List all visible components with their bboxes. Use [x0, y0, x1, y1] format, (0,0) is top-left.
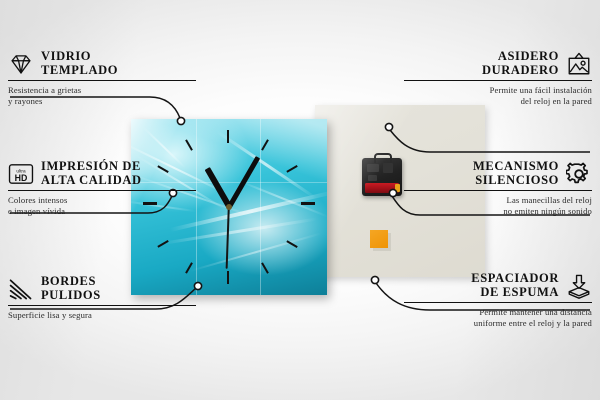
clock-mechanism	[362, 158, 402, 196]
feature-divider	[8, 190, 196, 191]
feature-title: MECANISMO SILENCIOSO	[473, 160, 559, 187]
feature-asidero-duradero[interactable]: ASIDERO DURADERO Permite una fácil insta…	[404, 50, 592, 106]
feature-heading: MECANISMO SILENCIOSO	[404, 160, 592, 187]
feature-heading: ASIDERO DURADERO	[404, 50, 592, 77]
ultra-hd-icon: ultra HD	[8, 161, 34, 187]
feature-heading: ultra HD IMPRESIÓN DE ALTA CALIDAD	[8, 160, 196, 187]
mechanism-detail	[367, 164, 379, 172]
feature-divider	[8, 305, 196, 306]
svg-text:HD: HD	[15, 172, 28, 182]
feature-mecanismo-silencioso[interactable]: MECANISMO SILENCIOSO Las manecillas del …	[404, 160, 592, 216]
wall-hanger-frame-icon	[566, 51, 592, 77]
feature-description: Superficie lisa y segura	[8, 310, 196, 320]
feature-impresion-alta-calidad[interactable]: ultra HD IMPRESIÓN DE ALTA CALIDAD Color…	[8, 160, 196, 216]
feature-description: Permite mantener una distancia uniforme …	[404, 307, 592, 328]
clock-tick	[227, 271, 229, 284]
feature-title: IMPRESIÓN DE ALTA CALIDAD	[41, 160, 142, 187]
foam-spacer	[370, 230, 388, 248]
feature-title: VIDRIO TEMPLADO	[41, 50, 118, 77]
feature-espaciador-de-espuma[interactable]: ESPACIADOR DE ESPUMA Permite mantener un…	[404, 272, 592, 328]
feature-title: ASIDERO DURADERO	[482, 50, 559, 77]
feature-description: Colores intensos e imagen vívida	[8, 195, 196, 216]
clock-tick	[301, 202, 315, 205]
feature-heading: ESPACIADOR DE ESPUMA	[404, 272, 592, 299]
diamond-icon	[8, 51, 34, 77]
feature-heading: BORDES PULIDOS	[8, 275, 196, 302]
gear-icon	[566, 161, 592, 187]
feature-description: Permite una fácil instalación del reloj …	[404, 85, 592, 106]
feature-description: Las manecillas del reloj no emiten ningú…	[404, 195, 592, 216]
feature-bordes-pulidos[interactable]: BORDES PULIDOS Superficie lisa y segura	[8, 275, 196, 321]
polished-edges-icon	[8, 276, 34, 302]
center-pin	[226, 204, 232, 210]
mechanism-hanger-icon	[374, 153, 392, 163]
mechanism-detail	[383, 163, 393, 173]
feature-divider	[404, 80, 592, 81]
feature-divider	[8, 80, 196, 81]
feature-divider	[404, 190, 592, 191]
feature-title: ESPACIADOR DE ESPUMA	[471, 272, 559, 299]
battery	[365, 183, 399, 193]
feature-vidrio-templado[interactable]: VIDRIO TEMPLADO Resistencia a grietas y …	[8, 50, 196, 106]
clock-tick	[227, 130, 229, 143]
feature-description: Resistencia a grietas y rayones	[8, 85, 196, 106]
glass-pane-line	[260, 119, 261, 295]
foam-spacer-arrow-icon	[566, 273, 592, 299]
infographic-canvas: VIDRIO TEMPLADO Resistencia a grietas y …	[0, 0, 600, 400]
feature-title: BORDES PULIDOS	[41, 275, 101, 302]
feature-divider	[404, 302, 592, 303]
mechanism-detail	[368, 175, 377, 181]
feature-heading: VIDRIO TEMPLADO	[8, 50, 196, 77]
